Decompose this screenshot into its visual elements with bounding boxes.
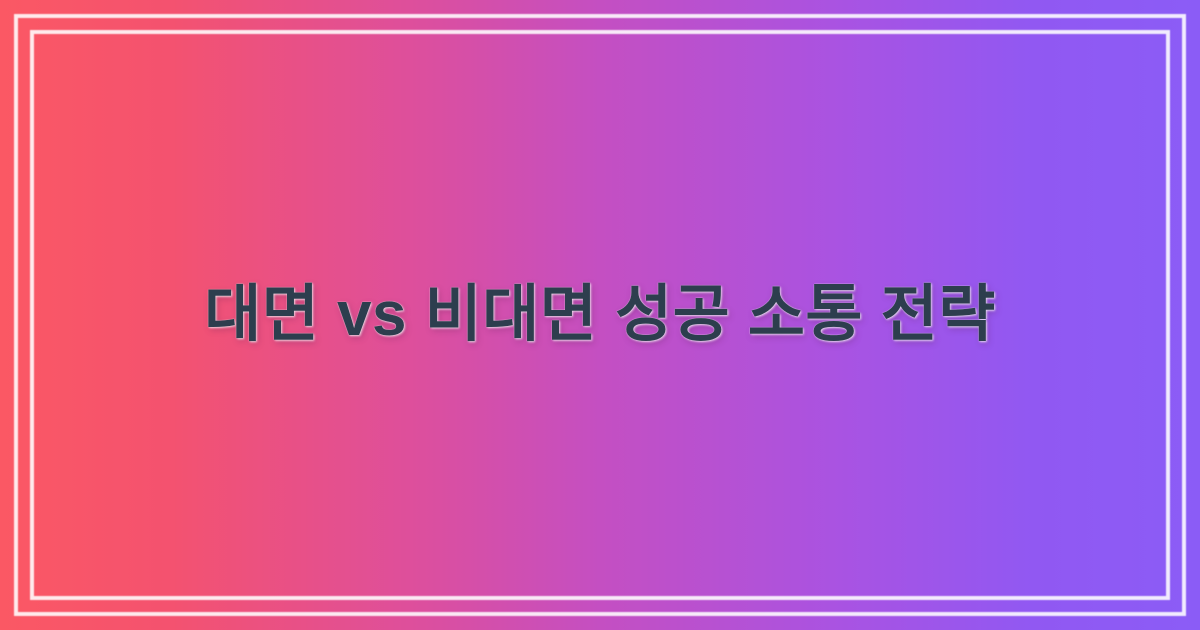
banner-card: 대면 vs 비대면 성공 소통 전략: [0, 0, 1200, 630]
page-title: 대면 vs 비대면 성공 소통 전략: [204, 277, 996, 354]
banner-content: 대면 vs 비대면 성공 소통 전략: [0, 0, 1200, 630]
